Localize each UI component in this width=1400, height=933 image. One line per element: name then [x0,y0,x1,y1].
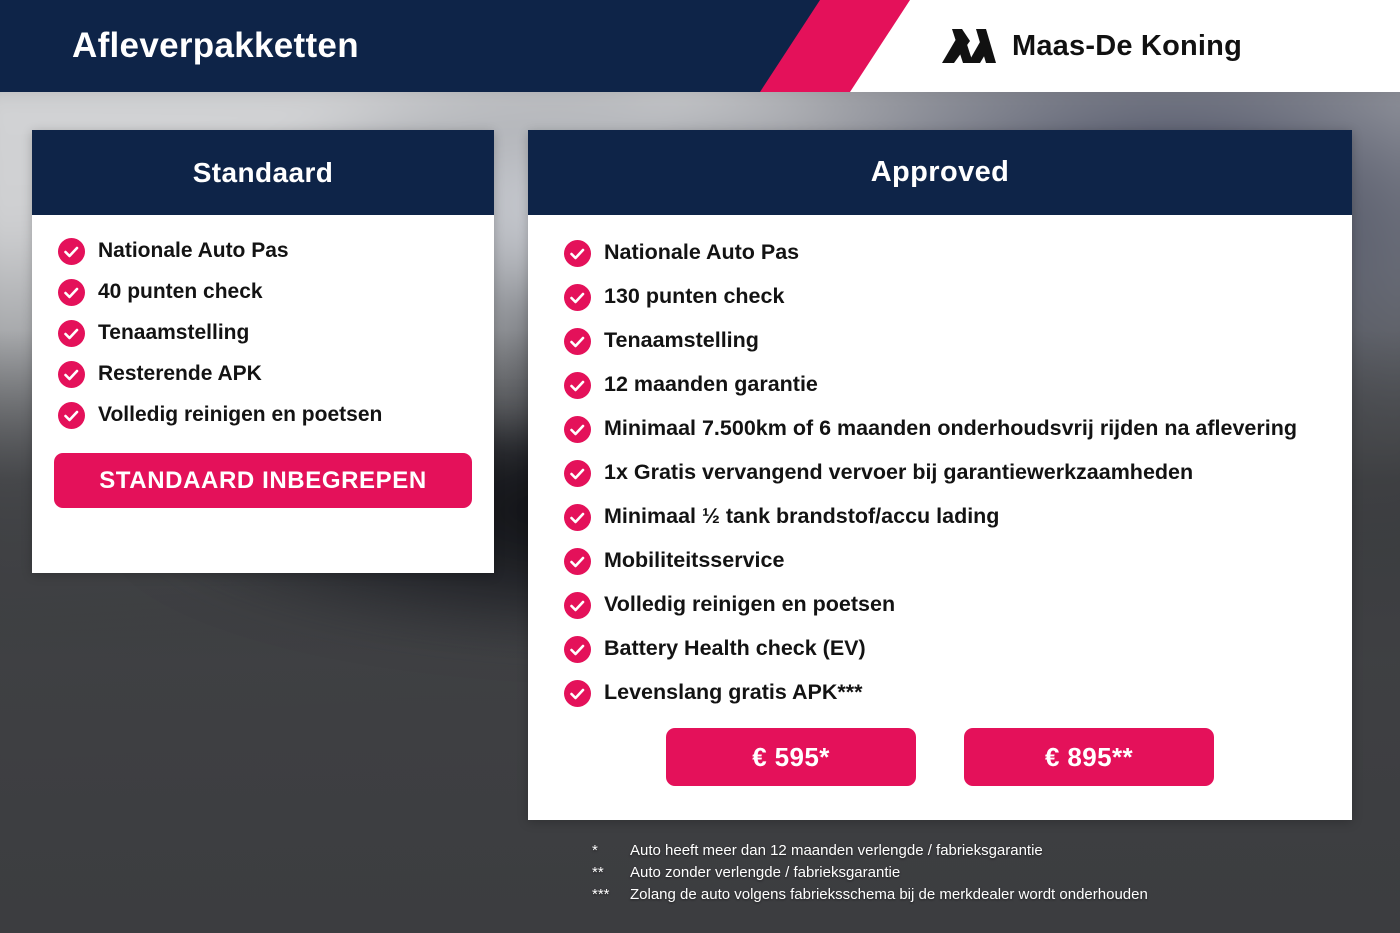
check-circle-icon [564,240,591,267]
check-circle-icon [564,284,591,311]
feature-label: Nationale Auto Pas [98,237,289,264]
feature-list-approved: Nationale Auto Pas130 punten checkTenaam… [528,215,1352,708]
feature-item: Tenaamstelling [58,319,494,347]
feature-item: Volledig reinigen en poetsen [58,401,494,429]
price-button-2[interactable]: € 895** [964,728,1214,786]
feature-item: Volledig reinigen en poetsen [564,589,1352,620]
check-circle-icon [564,548,591,575]
check-circle-icon [58,238,85,265]
price-button-1[interactable]: € 595* [666,728,916,786]
footnote: ***Zolang de auto volgens fabrieksschema… [592,884,1352,906]
card-body-standaard: Nationale Auto Pas40 punten checkTenaams… [32,215,494,508]
check-circle-icon [564,460,591,487]
footnote-marker: ** [592,862,630,884]
feature-label: Tenaamstelling [604,325,759,356]
feature-label: Mobiliteitsservice [604,545,784,576]
check-circle-icon [58,320,85,347]
feature-label: 40 punten check [98,278,263,305]
footnote-text: Auto zonder verlengde / fabrieksgarantie [630,862,1352,884]
page-title: Afleverpakketten [72,0,359,92]
page-header: Afleverpakketten Maas-De Koning [0,0,1400,92]
card-title-standaard: Standaard [32,130,494,215]
feature-label: Volledig reinigen en poetsen [98,401,382,428]
standaard-included-button[interactable]: STANDAARD INBEGREPEN [54,453,472,508]
feature-label: 12 maanden garantie [604,369,818,400]
feature-label: Tenaamstelling [98,319,249,346]
feature-item: Minimaal 7.500km of 6 maanden onderhouds… [564,413,1352,444]
card-title-approved: Approved [528,130,1352,215]
feature-item: 130 punten check [564,281,1352,312]
feature-label: Levenslang gratis APK*** [604,677,862,708]
feature-label: Battery Health check (EV) [604,633,866,664]
footnote: *Auto heeft meer dan 12 maanden verlengd… [592,840,1352,862]
feature-item: Mobiliteitsservice [564,545,1352,576]
feature-label: Nationale Auto Pas [604,237,799,268]
feature-item: 40 punten check [58,278,494,306]
check-circle-icon [564,592,591,619]
feature-item: 1x Gratis vervangend vervoer bij garanti… [564,457,1352,488]
feature-label: Volledig reinigen en poetsen [604,589,895,620]
check-circle-icon [58,279,85,306]
feature-item: Battery Health check (EV) [564,633,1352,664]
check-circle-icon [564,636,591,663]
card-body-approved: Nationale Auto Pas130 punten checkTenaam… [528,215,1352,786]
price-button-row: € 595*€ 895** [528,728,1352,786]
check-circle-icon [58,402,85,429]
feature-item: Levenslang gratis APK*** [564,677,1352,708]
feature-label: Minimaal ½ tank brandstof/accu lading [604,501,999,532]
brand-logo-text: Maas-De Koning [1012,30,1242,63]
footnotes-block: *Auto heeft meer dan 12 maanden verlengd… [592,840,1352,906]
feature-item: Tenaamstelling [564,325,1352,356]
feature-label: Resterende APK [98,360,262,387]
feature-label: Minimaal 7.500km of 6 maanden onderhouds… [604,413,1297,444]
page-root: Afleverpakketten Maas-De Koning Standaar… [0,0,1400,933]
footnote-text: Auto heeft meer dan 12 maanden verlengde… [630,840,1352,862]
package-card-standaard: Standaard Nationale Auto Pas40 punten ch… [32,130,494,573]
feature-item: Nationale Auto Pas [58,237,494,265]
feature-label: 1x Gratis vervangend vervoer bij garanti… [604,457,1193,488]
check-circle-icon [564,328,591,355]
feature-item: 12 maanden garantie [564,369,1352,400]
footnote-marker: * [592,840,630,862]
feature-label: 130 punten check [604,281,784,312]
feature-list-standaard: Nationale Auto Pas40 punten checkTenaams… [32,215,494,429]
package-card-approved: Approved Nationale Auto Pas130 punten ch… [528,130,1352,820]
check-circle-icon [564,416,591,443]
feature-item: Resterende APK [58,360,494,388]
check-circle-icon [564,680,591,707]
brand-logo[interactable]: Maas-De Koning [940,0,1242,92]
check-circle-icon [564,372,591,399]
footnote: **Auto zonder verlengde / fabrieksgarant… [592,862,1352,884]
feature-item: Nationale Auto Pas [564,237,1352,268]
maas-de-koning-m-mark-icon [940,25,998,67]
footnote-text: Zolang de auto volgens fabrieksschema bi… [630,884,1352,906]
check-circle-icon [58,361,85,388]
check-circle-icon [564,504,591,531]
footnote-marker: *** [592,884,630,906]
feature-item: Minimaal ½ tank brandstof/accu lading [564,501,1352,532]
